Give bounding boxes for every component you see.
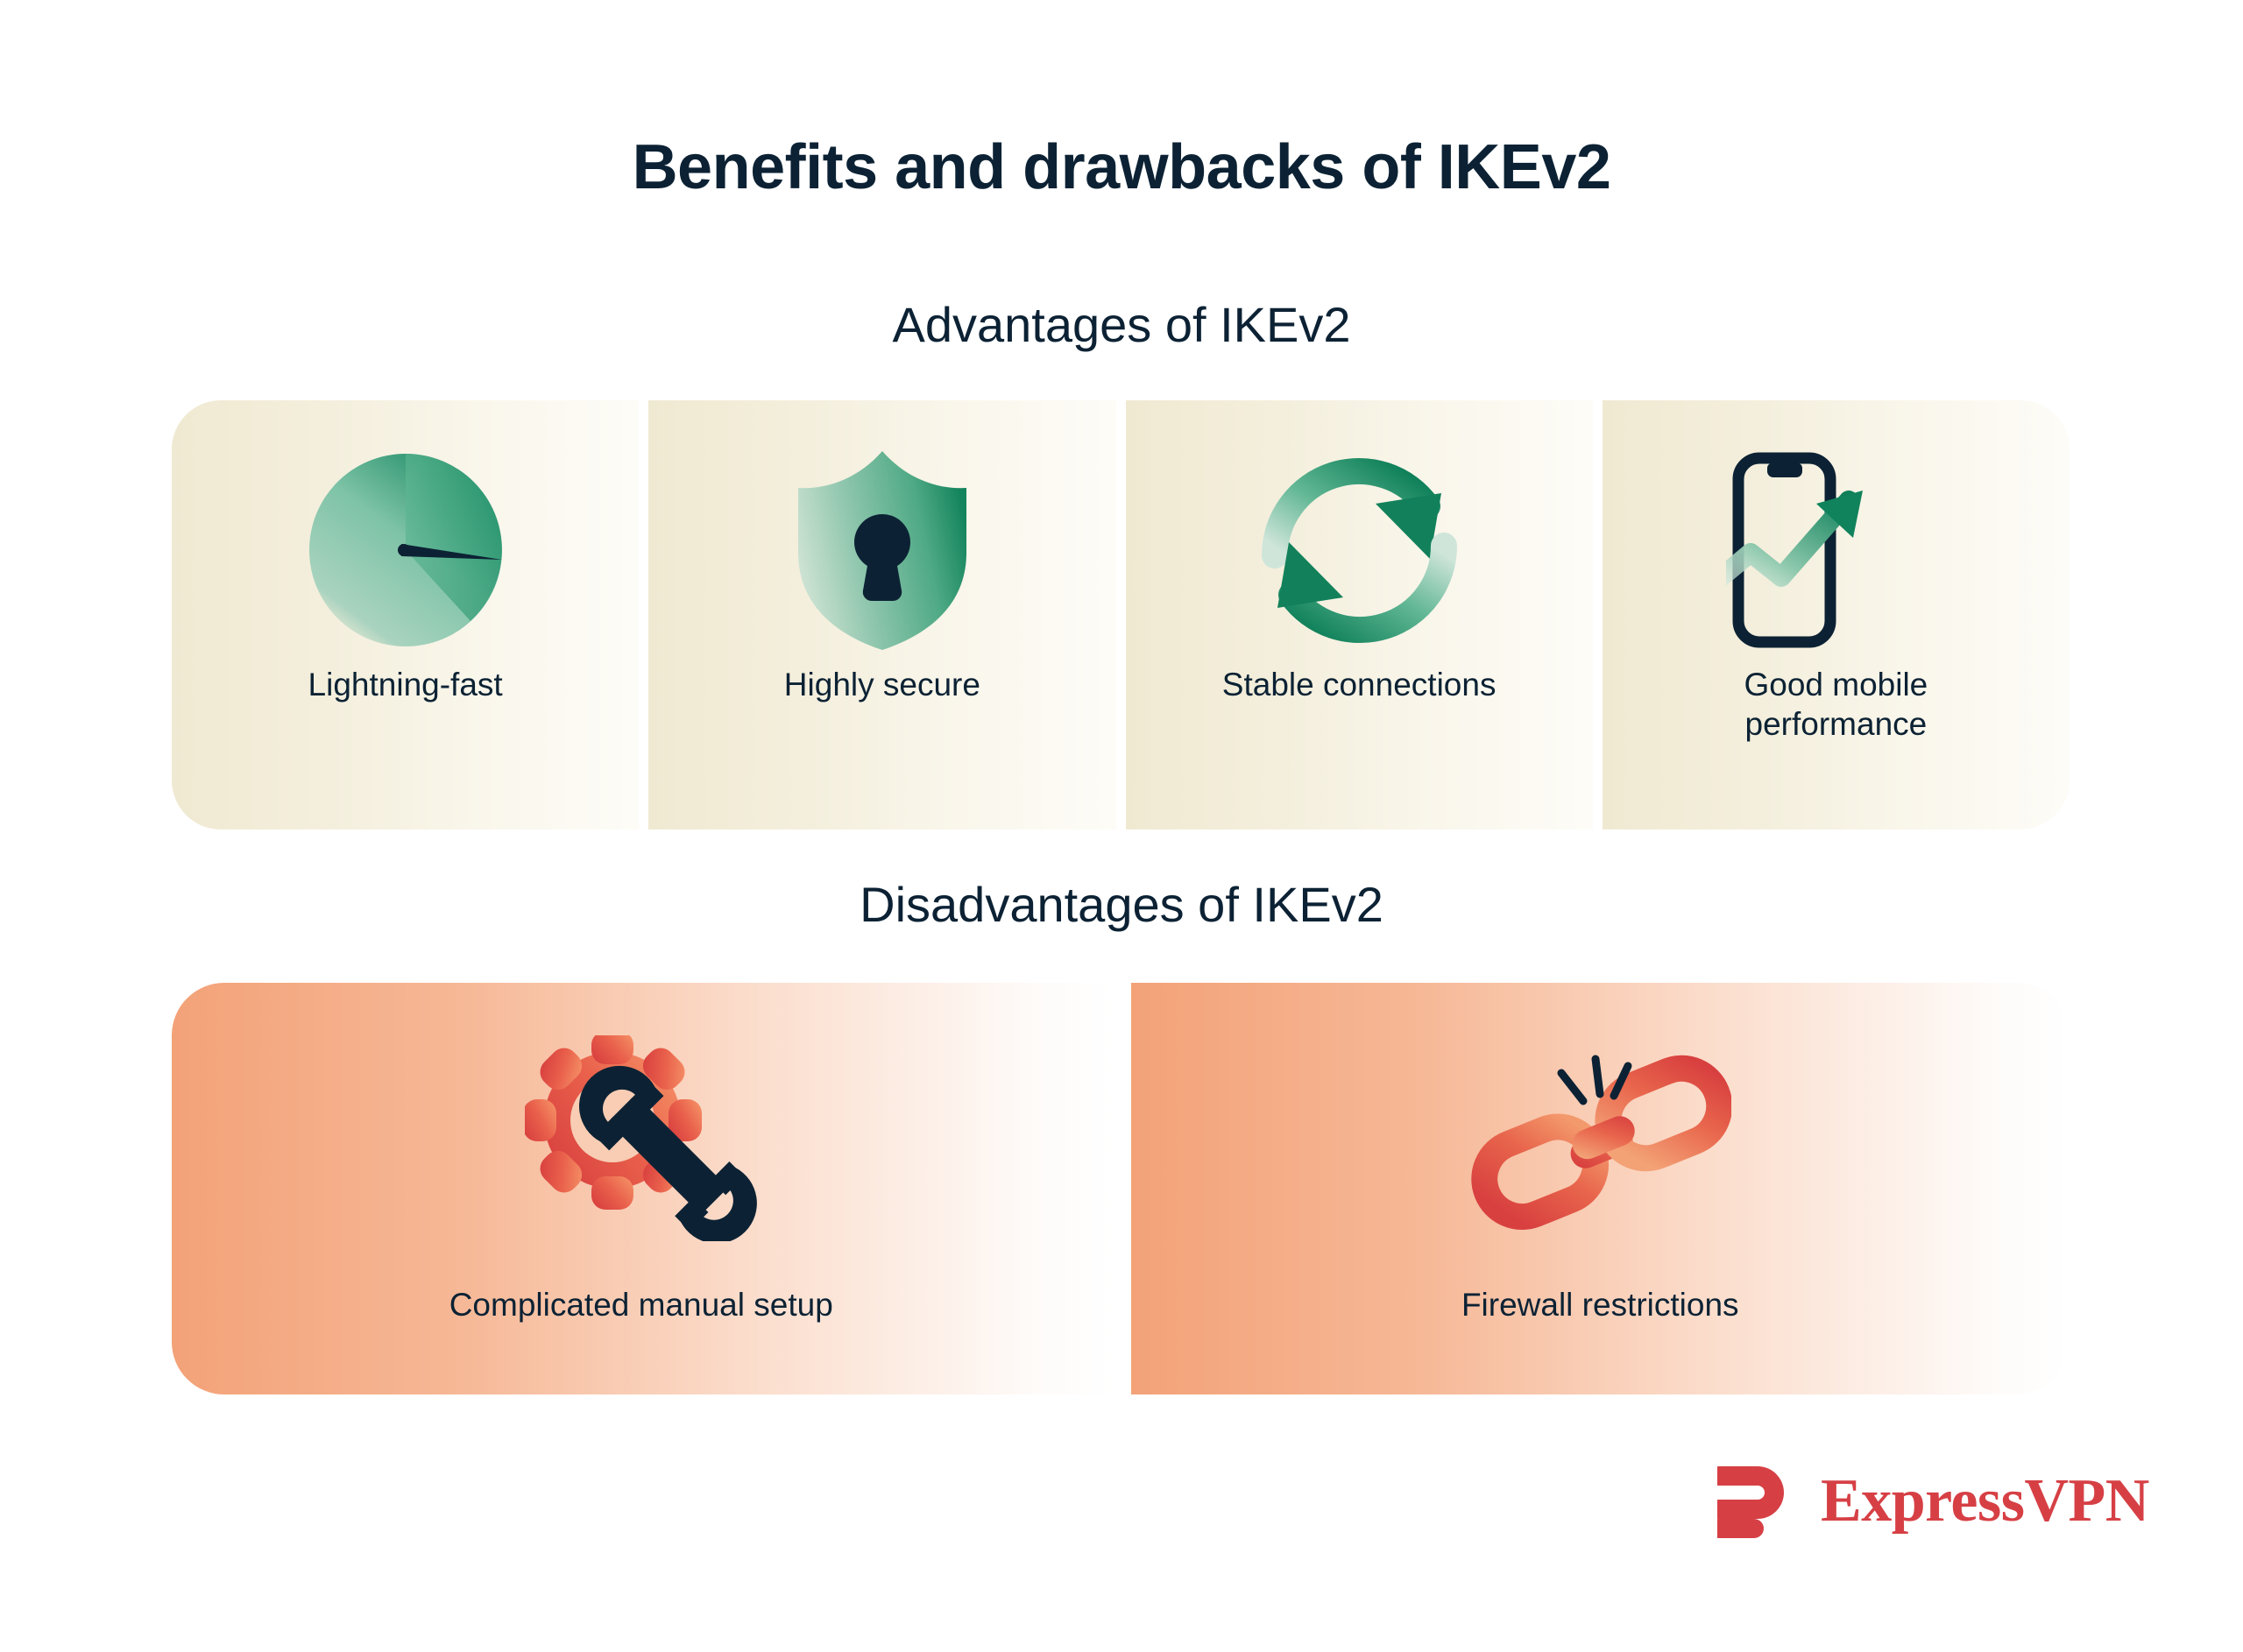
refresh-cycle-icon [1261,452,1458,649]
advantage-card-lightning-fast: Lightning-fast [172,400,639,830]
advantage-card-label: Good mobile performance [1603,665,2070,744]
expressvpn-logo[interactable]: ExpressVPN [1717,1465,2149,1538]
expressvpn-wordmark: ExpressVPN [1821,1471,2149,1532]
disadvantage-card-label: Firewall restrictions [1131,1285,2070,1324]
disadvantage-icon-wrapper [172,1020,1111,1256]
advantage-card-label: Highly secure [648,665,1115,704]
advantage-card-stable-connections: Stable connections [1126,400,1593,830]
advantage-icon-wrapper [1126,441,1593,660]
advantage-card-label: Lightning-fast [172,665,639,704]
advantage-card-good-mobile-performance: Good mobile performance [1603,400,2070,830]
broken-chain-icon [1468,1033,1731,1243]
advantage-icon-wrapper [172,441,639,660]
disadvantage-card-complicated-manual-setup: Complicated manual setup [172,983,1111,1394]
disadvantage-card-label: Complicated manual setup [172,1285,1111,1324]
disadvantage-icon-wrapper [1131,1020,2070,1256]
disadvantage-card-firewall-restrictions: Firewall restrictions [1131,983,2070,1394]
advantage-icon-wrapper [1603,441,2070,660]
expressvpn-e-mark-icon [1717,1465,1798,1538]
advantage-card-label: Stable connections [1126,665,1593,704]
advantages-card-row: Lightning-fast [172,400,2070,830]
infographic-canvas: Benefits and drawbacks of IKEv2 Advantag… [0,0,2243,1652]
break-sparks-icon [1561,1059,1628,1101]
shield-keyhole-icon [795,448,970,653]
disadvantages-card-row: Complicated manual setup [172,983,2070,1394]
phone-growth-chart-icon [1726,449,1945,651]
disadvantages-heading: Disadvantages of IKEv2 [0,878,2243,932]
speedometer-icon [305,449,506,651]
advantages-heading: Advantages of IKEv2 [0,298,2243,352]
page-title: Benefits and drawbacks of IKEv2 [0,133,2243,202]
advantage-card-highly-secure: Highly secure [648,400,1115,830]
advantage-icon-wrapper [648,441,1115,660]
gear-wrench-icon [525,1035,757,1241]
